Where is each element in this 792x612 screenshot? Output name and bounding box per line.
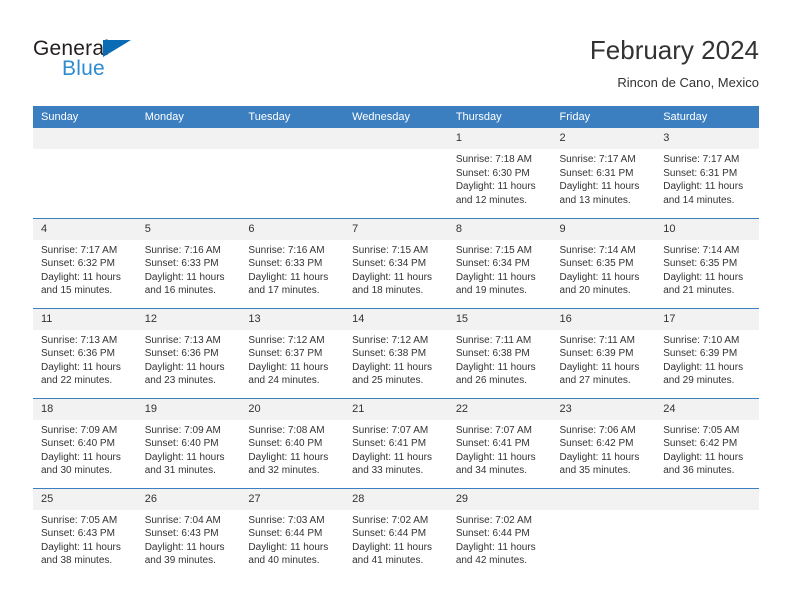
sunset-text: Sunset: 6:36 PM [145,347,233,361]
sunrise-text: Sunrise: 7:12 AM [352,334,440,348]
sunset-text: Sunset: 6:40 PM [145,437,233,451]
sunset-text: Sunset: 6:43 PM [41,527,129,541]
sunrise-text: Sunrise: 7:12 AM [248,334,336,348]
daylight-text: Daylight: 11 hours [248,451,336,465]
daylight-text-cont: and 39 minutes. [145,554,233,568]
calendar-day-cell[interactable]: 29Sunrise: 7:02 AMSunset: 6:44 PMDayligh… [448,488,552,578]
daylight-text-cont: and 25 minutes. [352,374,440,388]
day-number: 28 [344,489,448,510]
daylight-text-cont: and 14 minutes. [663,194,751,208]
day-details [344,149,448,153]
daylight-text-cont: and 42 minutes. [456,554,544,568]
daylight-text-cont: and 21 minutes. [663,284,751,298]
sunset-text: Sunset: 6:34 PM [352,257,440,271]
sunset-text: Sunset: 6:44 PM [248,527,336,541]
daylight-text-cont: and 38 minutes. [41,554,129,568]
daylight-text: Daylight: 11 hours [560,271,648,285]
calendar-week-row: 11Sunrise: 7:13 AMSunset: 6:36 PMDayligh… [33,308,759,398]
sunrise-text: Sunrise: 7:02 AM [352,514,440,528]
day-details: Sunrise: 7:05 AMSunset: 6:43 PMDaylight:… [33,510,137,568]
day-number: 22 [448,399,552,420]
daylight-text: Daylight: 11 hours [663,180,751,194]
sunset-text: Sunset: 6:33 PM [145,257,233,271]
day-details: Sunrise: 7:17 AMSunset: 6:31 PMDaylight:… [655,149,759,207]
daylight-text-cont: and 32 minutes. [248,464,336,478]
sunrise-text: Sunrise: 7:10 AM [663,334,751,348]
day-number: 12 [137,309,241,330]
daylight-text: Daylight: 11 hours [663,451,751,465]
sunrise-text: Sunrise: 7:02 AM [456,514,544,528]
day-number: 23 [552,399,656,420]
calendar-day-cell-empty [344,128,448,218]
calendar-day-cell[interactable]: 10Sunrise: 7:14 AMSunset: 6:35 PMDayligh… [655,218,759,308]
sunset-text: Sunset: 6:31 PM [560,167,648,181]
day-number: 6 [240,219,344,240]
day-details: Sunrise: 7:14 AMSunset: 6:35 PMDaylight:… [655,240,759,298]
calendar-day-cell[interactable]: 9Sunrise: 7:14 AMSunset: 6:35 PMDaylight… [552,218,656,308]
daylight-text: Daylight: 11 hours [145,541,233,555]
sunrise-text: Sunrise: 7:05 AM [663,424,751,438]
weekday-header-wednesday: Wednesday [344,106,448,128]
day-details: Sunrise: 7:07 AMSunset: 6:41 PMDaylight:… [448,420,552,478]
sunrise-text: Sunrise: 7:07 AM [456,424,544,438]
day-details: Sunrise: 7:06 AMSunset: 6:42 PMDaylight:… [552,420,656,478]
daylight-text-cont: and 13 minutes. [560,194,648,208]
day-number: 29 [448,489,552,510]
calendar-body: 1Sunrise: 7:18 AMSunset: 6:30 PMDaylight… [33,128,759,578]
sunrise-text: Sunrise: 7:17 AM [41,244,129,258]
calendar-day-cell[interactable]: 18Sunrise: 7:09 AMSunset: 6:40 PMDayligh… [33,398,137,488]
calendar-day-cell[interactable]: 5Sunrise: 7:16 AMSunset: 6:33 PMDaylight… [137,218,241,308]
daylight-text: Daylight: 11 hours [145,361,233,375]
calendar-day-cell-empty [240,128,344,218]
weekday-header-tuesday: Tuesday [240,106,344,128]
day-details: Sunrise: 7:09 AMSunset: 6:40 PMDaylight:… [137,420,241,478]
weekday-header-friday: Friday [552,106,656,128]
day-number: 26 [137,489,241,510]
daylight-text-cont: and 15 minutes. [41,284,129,298]
sunrise-text: Sunrise: 7:11 AM [560,334,648,348]
daylight-text: Daylight: 11 hours [456,180,544,194]
sunset-text: Sunset: 6:40 PM [41,437,129,451]
day-details: Sunrise: 7:17 AMSunset: 6:32 PMDaylight:… [33,240,137,298]
general-blue-logo[interactable]: General Blue [33,38,213,86]
day-number [552,489,656,510]
day-details [655,510,759,514]
sunset-text: Sunset: 6:39 PM [663,347,751,361]
calendar-day-cell-empty [33,128,137,218]
day-number: 1 [448,128,552,149]
day-number: 20 [240,399,344,420]
daylight-text-cont: and 16 minutes. [145,284,233,298]
calendar-day-cell[interactable]: 19Sunrise: 7:09 AMSunset: 6:40 PMDayligh… [137,398,241,488]
sunrise-text: Sunrise: 7:08 AM [248,424,336,438]
day-number: 4 [33,219,137,240]
day-details: Sunrise: 7:16 AMSunset: 6:33 PMDaylight:… [137,240,241,298]
sunset-text: Sunset: 6:34 PM [456,257,544,271]
calendar-week-row: 4Sunrise: 7:17 AMSunset: 6:32 PMDaylight… [33,218,759,308]
day-details: Sunrise: 7:09 AMSunset: 6:40 PMDaylight:… [33,420,137,478]
day-details [33,149,137,153]
sunrise-text: Sunrise: 7:16 AM [248,244,336,258]
day-details: Sunrise: 7:05 AMSunset: 6:42 PMDaylight:… [655,420,759,478]
sunset-text: Sunset: 6:30 PM [456,167,544,181]
daylight-text-cont: and 35 minutes. [560,464,648,478]
calendar-day-cell-empty [655,488,759,578]
day-number: 15 [448,309,552,330]
daylight-text: Daylight: 11 hours [248,361,336,375]
calendar-week-row: 18Sunrise: 7:09 AMSunset: 6:40 PMDayligh… [33,398,759,488]
daylight-text-cont: and 18 minutes. [352,284,440,298]
sunset-text: Sunset: 6:43 PM [145,527,233,541]
day-details: Sunrise: 7:04 AMSunset: 6:43 PMDaylight:… [137,510,241,568]
sunrise-text: Sunrise: 7:17 AM [663,153,751,167]
day-details: Sunrise: 7:12 AMSunset: 6:37 PMDaylight:… [240,330,344,388]
weekday-header-saturday: Saturday [655,106,759,128]
calendar-day-cell[interactable]: 16Sunrise: 7:11 AMSunset: 6:39 PMDayligh… [552,308,656,398]
sunset-text: Sunset: 6:40 PM [248,437,336,451]
daylight-text-cont: and 12 minutes. [456,194,544,208]
sunset-text: Sunset: 6:31 PM [663,167,751,181]
day-number: 10 [655,219,759,240]
day-details [137,149,241,153]
day-number: 7 [344,219,448,240]
calendar-grid: Sunday Monday Tuesday Wednesday Thursday… [33,106,759,578]
day-number: 2 [552,128,656,149]
sunset-text: Sunset: 6:42 PM [663,437,751,451]
daylight-text-cont: and 36 minutes. [663,464,751,478]
daylight-text: Daylight: 11 hours [352,451,440,465]
day-number: 25 [33,489,137,510]
daylight-text-cont: and 20 minutes. [560,284,648,298]
sunset-text: Sunset: 6:38 PM [456,347,544,361]
calendar-day-cell[interactable]: 2Sunrise: 7:17 AMSunset: 6:31 PMDaylight… [552,128,656,218]
calendar-day-cell[interactable]: 26Sunrise: 7:04 AMSunset: 6:43 PMDayligh… [137,488,241,578]
sunrise-text: Sunrise: 7:18 AM [456,153,544,167]
daylight-text: Daylight: 11 hours [352,271,440,285]
day-details: Sunrise: 7:11 AMSunset: 6:38 PMDaylight:… [448,330,552,388]
day-details: Sunrise: 7:17 AMSunset: 6:31 PMDaylight:… [552,149,656,207]
daylight-text: Daylight: 11 hours [560,180,648,194]
sunrise-text: Sunrise: 7:07 AM [352,424,440,438]
weekday-header-monday: Monday [137,106,241,128]
sunset-text: Sunset: 6:36 PM [41,347,129,361]
day-number: 3 [655,128,759,149]
daylight-text-cont: and 19 minutes. [456,284,544,298]
day-number: 27 [240,489,344,510]
weekday-header-sunday: Sunday [33,106,137,128]
day-details: Sunrise: 7:02 AMSunset: 6:44 PMDaylight:… [448,510,552,568]
daylight-text: Daylight: 11 hours [456,451,544,465]
daylight-text-cont: and 29 minutes. [663,374,751,388]
sunset-text: Sunset: 6:41 PM [352,437,440,451]
day-number [240,128,344,149]
day-number [137,128,241,149]
daylight-text: Daylight: 11 hours [560,451,648,465]
daylight-text: Daylight: 11 hours [352,361,440,375]
weekday-header-thursday: Thursday [448,106,552,128]
calendar-day-cell[interactable]: 15Sunrise: 7:11 AMSunset: 6:38 PMDayligh… [448,308,552,398]
day-details: Sunrise: 7:02 AMSunset: 6:44 PMDaylight:… [344,510,448,568]
sunset-text: Sunset: 6:39 PM [560,347,648,361]
daylight-text: Daylight: 11 hours [352,541,440,555]
day-details: Sunrise: 7:14 AMSunset: 6:35 PMDaylight:… [552,240,656,298]
sunset-text: Sunset: 6:35 PM [663,257,751,271]
calendar-day-cell[interactable]: 20Sunrise: 7:08 AMSunset: 6:40 PMDayligh… [240,398,344,488]
day-number: 11 [33,309,137,330]
daylight-text: Daylight: 11 hours [41,361,129,375]
calendar-day-cell-empty [552,488,656,578]
daylight-text: Daylight: 11 hours [145,451,233,465]
daylight-text: Daylight: 11 hours [663,271,751,285]
day-details: Sunrise: 7:11 AMSunset: 6:39 PMDaylight:… [552,330,656,388]
day-details: Sunrise: 7:13 AMSunset: 6:36 PMDaylight:… [137,330,241,388]
daylight-text-cont: and 24 minutes. [248,374,336,388]
sunset-text: Sunset: 6:33 PM [248,257,336,271]
daylight-text-cont: and 30 minutes. [41,464,129,478]
sunrise-text: Sunrise: 7:13 AM [145,334,233,348]
day-details: Sunrise: 7:10 AMSunset: 6:39 PMDaylight:… [655,330,759,388]
day-number [655,489,759,510]
calendar-day-cell[interactable]: 14Sunrise: 7:12 AMSunset: 6:38 PMDayligh… [344,308,448,398]
daylight-text: Daylight: 11 hours [41,271,129,285]
sunset-text: Sunset: 6:44 PM [456,527,544,541]
sunrise-text: Sunrise: 7:15 AM [456,244,544,258]
calendar-day-cell[interactable]: 6Sunrise: 7:16 AMSunset: 6:33 PMDaylight… [240,218,344,308]
calendar-day-cell[interactable]: 4Sunrise: 7:17 AMSunset: 6:32 PMDaylight… [33,218,137,308]
sunrise-text: Sunrise: 7:04 AM [145,514,233,528]
calendar-day-cell[interactable]: 7Sunrise: 7:15 AMSunset: 6:34 PMDaylight… [344,218,448,308]
title-block: February 2024 Rincon de Cano, Mexico [590,33,759,93]
daylight-text: Daylight: 11 hours [456,541,544,555]
sunrise-text: Sunrise: 7:03 AM [248,514,336,528]
calendar-day-cell[interactable]: 8Sunrise: 7:15 AMSunset: 6:34 PMDaylight… [448,218,552,308]
calendar-day-cell[interactable]: 13Sunrise: 7:12 AMSunset: 6:37 PMDayligh… [240,308,344,398]
daylight-text: Daylight: 11 hours [560,361,648,375]
daylight-text: Daylight: 11 hours [248,271,336,285]
day-number: 14 [344,309,448,330]
day-details: Sunrise: 7:18 AMSunset: 6:30 PMDaylight:… [448,149,552,207]
day-number: 13 [240,309,344,330]
daylight-text-cont: and 40 minutes. [248,554,336,568]
day-number: 8 [448,219,552,240]
logo-text-blue: Blue [62,58,105,80]
day-details: Sunrise: 7:15 AMSunset: 6:34 PMDaylight:… [344,240,448,298]
daylight-text-cont: and 23 minutes. [145,374,233,388]
daylight-text: Daylight: 11 hours [456,271,544,285]
day-details: Sunrise: 7:12 AMSunset: 6:38 PMDaylight:… [344,330,448,388]
daylight-text-cont: and 22 minutes. [41,374,129,388]
sunrise-text: Sunrise: 7:09 AM [41,424,129,438]
sunset-text: Sunset: 6:35 PM [560,257,648,271]
sunrise-text: Sunrise: 7:14 AM [663,244,751,258]
daylight-text-cont: and 26 minutes. [456,374,544,388]
daylight-text-cont: and 41 minutes. [352,554,440,568]
daylight-text-cont: and 17 minutes. [248,284,336,298]
day-number: 5 [137,219,241,240]
sunset-text: Sunset: 6:32 PM [41,257,129,271]
daylight-text: Daylight: 11 hours [41,451,129,465]
calendar-week-row: 1Sunrise: 7:18 AMSunset: 6:30 PMDaylight… [33,128,759,218]
day-details: Sunrise: 7:15 AMSunset: 6:34 PMDaylight:… [448,240,552,298]
sunrise-text: Sunrise: 7:05 AM [41,514,129,528]
calendar-day-cell[interactable]: 1Sunrise: 7:18 AMSunset: 6:30 PMDaylight… [448,128,552,218]
day-number [344,128,448,149]
day-details: Sunrise: 7:08 AMSunset: 6:40 PMDaylight:… [240,420,344,478]
sunset-text: Sunset: 6:37 PM [248,347,336,361]
sunset-text: Sunset: 6:44 PM [352,527,440,541]
calendar-day-cell[interactable]: 23Sunrise: 7:06 AMSunset: 6:42 PMDayligh… [552,398,656,488]
day-number: 18 [33,399,137,420]
day-details: Sunrise: 7:13 AMSunset: 6:36 PMDaylight:… [33,330,137,388]
page-title: February 2024 [590,33,759,67]
day-number: 19 [137,399,241,420]
weekday-header-row: Sunday Monday Tuesday Wednesday Thursday… [33,106,759,128]
calendar-day-cell[interactable]: 11Sunrise: 7:13 AMSunset: 6:36 PMDayligh… [33,308,137,398]
day-details: Sunrise: 7:07 AMSunset: 6:41 PMDaylight:… [344,420,448,478]
calendar-day-cell[interactable]: 28Sunrise: 7:02 AMSunset: 6:44 PMDayligh… [344,488,448,578]
sunrise-text: Sunrise: 7:15 AM [352,244,440,258]
daylight-text: Daylight: 11 hours [145,271,233,285]
page-header: General Blue February 2024 Rincon de Can… [0,0,792,104]
sunrise-text: Sunrise: 7:13 AM [41,334,129,348]
daylight-text: Daylight: 11 hours [248,541,336,555]
day-number [33,128,137,149]
daylight-text-cont: and 34 minutes. [456,464,544,478]
day-number: 21 [344,399,448,420]
sunrise-text: Sunrise: 7:11 AM [456,334,544,348]
page-subtitle: Rincon de Cano, Mexico [590,73,759,93]
sunrise-text: Sunrise: 7:09 AM [145,424,233,438]
sunrise-text: Sunrise: 7:17 AM [560,153,648,167]
sunrise-text: Sunrise: 7:16 AM [145,244,233,258]
sunrise-text: Sunrise: 7:06 AM [560,424,648,438]
day-number: 24 [655,399,759,420]
daylight-text-cont: and 27 minutes. [560,374,648,388]
day-details [552,510,656,514]
day-details: Sunrise: 7:03 AMSunset: 6:44 PMDaylight:… [240,510,344,568]
sunset-text: Sunset: 6:38 PM [352,347,440,361]
calendar-day-cell[interactable]: 24Sunrise: 7:05 AMSunset: 6:42 PMDayligh… [655,398,759,488]
calendar-day-cell[interactable]: 21Sunrise: 7:07 AMSunset: 6:41 PMDayligh… [344,398,448,488]
logo-triangle-icon [103,40,131,57]
calendar-day-cell-empty [137,128,241,218]
calendar-day-cell[interactable]: 25Sunrise: 7:05 AMSunset: 6:43 PMDayligh… [33,488,137,578]
calendar-day-cell[interactable]: 12Sunrise: 7:13 AMSunset: 6:36 PMDayligh… [137,308,241,398]
day-number: 16 [552,309,656,330]
day-details: Sunrise: 7:16 AMSunset: 6:33 PMDaylight:… [240,240,344,298]
daylight-text-cont: and 31 minutes. [145,464,233,478]
calendar-day-cell[interactable]: 3Sunrise: 7:17 AMSunset: 6:31 PMDaylight… [655,128,759,218]
daylight-text: Daylight: 11 hours [456,361,544,375]
day-number: 17 [655,309,759,330]
calendar-page: General Blue February 2024 Rincon de Can… [0,0,792,612]
sunset-text: Sunset: 6:41 PM [456,437,544,451]
daylight-text: Daylight: 11 hours [41,541,129,555]
day-details [240,149,344,153]
daylight-text: Daylight: 11 hours [663,361,751,375]
day-number: 9 [552,219,656,240]
sunset-text: Sunset: 6:42 PM [560,437,648,451]
daylight-text-cont: and 33 minutes. [352,464,440,478]
calendar-day-cell[interactable]: 27Sunrise: 7:03 AMSunset: 6:44 PMDayligh… [240,488,344,578]
calendar-day-cell[interactable]: 17Sunrise: 7:10 AMSunset: 6:39 PMDayligh… [655,308,759,398]
calendar-week-row: 25Sunrise: 7:05 AMSunset: 6:43 PMDayligh… [33,488,759,578]
sunrise-text: Sunrise: 7:14 AM [560,244,648,258]
calendar-day-cell[interactable]: 22Sunrise: 7:07 AMSunset: 6:41 PMDayligh… [448,398,552,488]
